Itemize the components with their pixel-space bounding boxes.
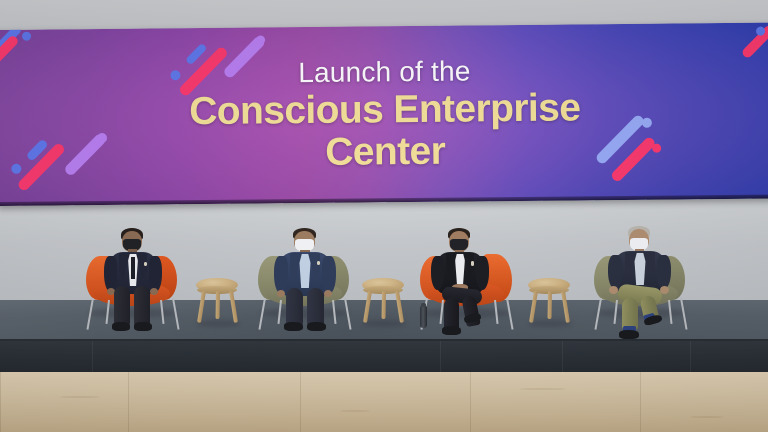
panelist-4 — [606, 226, 680, 334]
hand-right — [324, 290, 332, 297]
stool-leg — [529, 291, 538, 323]
shoe-left — [284, 322, 303, 331]
stool-leg — [216, 291, 220, 319]
wooden-floor — [0, 372, 768, 432]
banner-line-3: Center — [325, 131, 445, 171]
stool-1 — [196, 278, 240, 326]
stage-seam-4 — [690, 341, 691, 373]
stage-seam-1 — [92, 341, 93, 373]
stool-leg — [363, 291, 372, 323]
shoe-left — [112, 322, 130, 331]
event-photo-scene: Launch of the Conscious Enterprise Cente… — [0, 0, 768, 432]
water-bottle — [420, 306, 427, 328]
panelist-1 — [100, 228, 166, 332]
necktie — [131, 257, 135, 279]
stool-3 — [528, 278, 572, 326]
arm-right — [657, 255, 671, 289]
shoe-left — [442, 326, 461, 335]
arm-left — [104, 256, 117, 292]
shoe-right — [307, 322, 326, 331]
arm-right — [322, 256, 336, 294]
stage-seam-2 — [440, 341, 441, 373]
stool-leg — [395, 291, 404, 323]
arm-left — [431, 256, 444, 290]
shoe-left — [619, 330, 639, 339]
stage-platform-face — [0, 341, 768, 373]
bottle-cap — [421, 303, 426, 307]
hand-right — [150, 288, 158, 295]
stool-leg — [382, 291, 386, 319]
lapel-badge — [144, 262, 147, 266]
leg-left — [286, 288, 303, 326]
stool-leg — [197, 291, 206, 323]
leg-right — [134, 286, 150, 326]
banner-line-1: Launch of the — [298, 57, 471, 87]
stool-leg — [561, 291, 570, 323]
shoe-right — [134, 322, 152, 331]
stool-leg — [548, 291, 552, 319]
stool-leg — [229, 291, 238, 323]
hand-left — [609, 286, 618, 294]
arm-right — [149, 256, 162, 292]
arm-left — [274, 256, 288, 294]
stool-2 — [362, 278, 406, 326]
lapel-badge — [317, 261, 320, 265]
leg-right — [307, 288, 324, 326]
event-banner: Launch of the Conscious Enterprise Cente… — [0, 23, 768, 206]
leg-left — [114, 286, 130, 326]
banner-text-block: Launch of the Conscious Enterprise Cente… — [0, 23, 768, 206]
arm-right — [476, 256, 489, 290]
lapel-badge — [471, 261, 474, 266]
panelist-3 — [428, 228, 500, 334]
arm-left — [608, 255, 622, 289]
stage-seam-3 — [562, 341, 563, 373]
banner-line-2: Conscious Enterprise — [189, 88, 580, 131]
floor-sheen — [0, 372, 768, 432]
panelist-2 — [272, 228, 338, 332]
hand-left — [277, 290, 285, 297]
